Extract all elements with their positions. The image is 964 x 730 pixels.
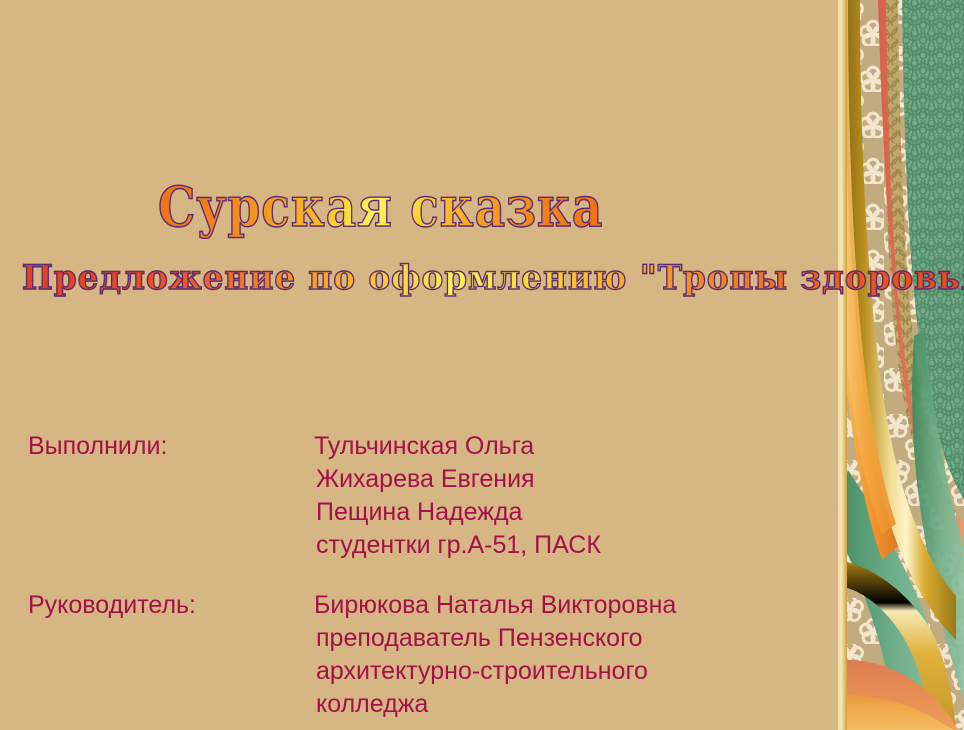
decorative-border-artwork <box>838 0 964 730</box>
advisor-position-line: архитектурно-строительного <box>316 655 676 688</box>
advisor-label: Руководитель: <box>28 589 196 622</box>
author-name: Жихарева Евгения <box>316 463 601 496</box>
advisor-details: Бирюкова Наталья Викторовна преподавател… <box>316 589 676 721</box>
presentation-slide: Сурская сказка Предложение по оформлению… <box>0 0 964 730</box>
slide-title-subtitle: Предложение по оформлению "Тропы здоровь… <box>22 258 964 298</box>
author-name: Тульчинская Ольга <box>314 430 601 463</box>
advisor-position-line: колледжа <box>316 688 676 721</box>
authors-list: Тульчинская Ольга Жихарева Евгения Пещин… <box>316 430 601 562</box>
border-svg <box>838 0 964 730</box>
authors-group-info: студентки гр.А-51, ПАСК <box>316 529 601 562</box>
gold-edge-strip <box>838 0 847 730</box>
slide-title-main: Сурская сказка <box>158 174 603 239</box>
author-name: Пещина Надежда <box>316 496 601 529</box>
authors-label: Выполнили: <box>28 430 167 463</box>
advisor-name: Бирюкова Наталья Викторовна <box>314 589 676 622</box>
advisor-position-line: преподаватель Пензенского <box>316 622 676 655</box>
